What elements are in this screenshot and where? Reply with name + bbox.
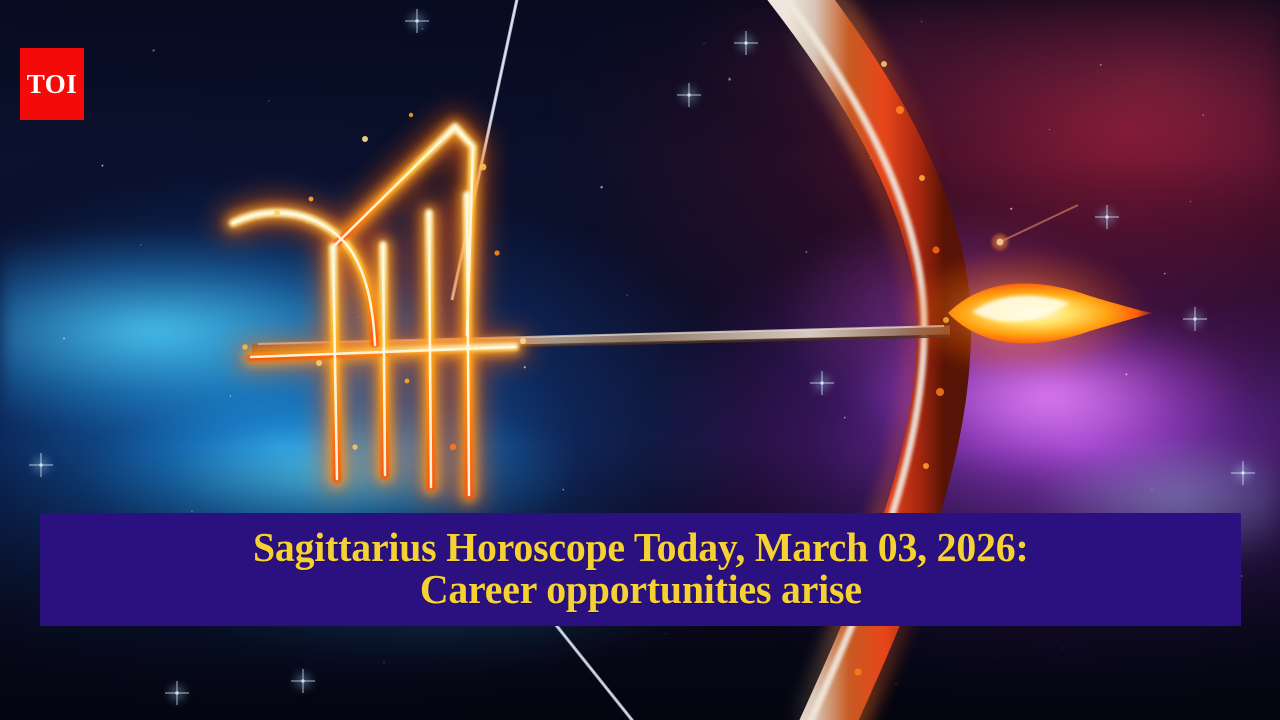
headline-line-1: Sagittarius Horoscope Today, March 03, 2… [253,527,1029,569]
headline-line-2: Career opportunities arise [420,569,862,611]
sagittarius-fire-glyph [215,95,635,525]
thumbnail-canvas: TOI Sagittarius Horoscope Today, March 0… [0,0,1280,720]
headline-banner: Sagittarius Horoscope Today, March 03, 2… [40,513,1241,626]
bowstring-lower [556,625,640,720]
toi-logo-text: TOI [27,71,78,98]
toi-logo[interactable]: TOI [20,48,84,120]
meteor-trail [992,205,1078,250]
